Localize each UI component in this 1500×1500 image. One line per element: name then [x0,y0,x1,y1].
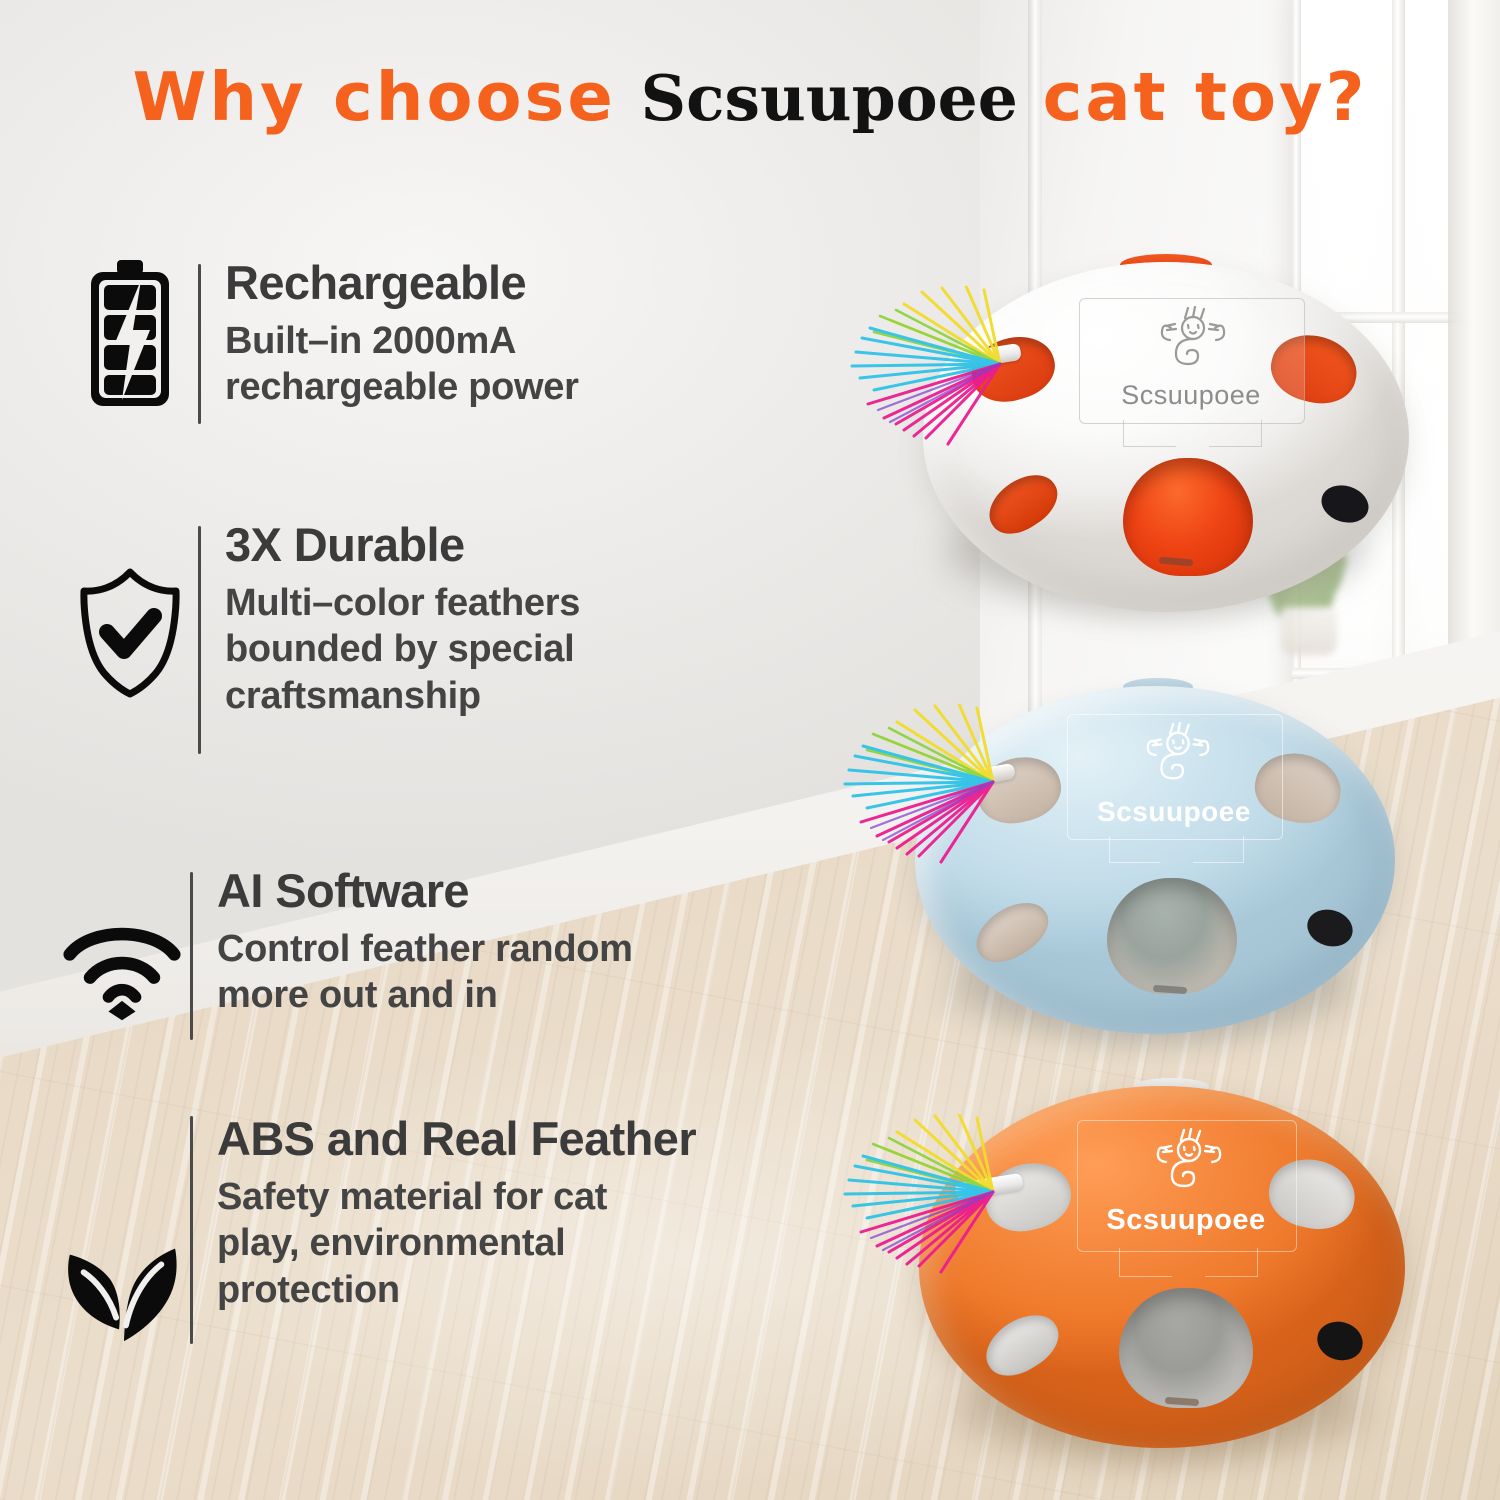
play-hole [979,463,1067,544]
feature-description-line: bounded by special [225,626,580,672]
feature-description-line: more out and in [217,972,633,1018]
page-title-prefix: Why choose [132,58,615,136]
page-title-suffix: cat toy? [1043,58,1368,136]
feature-description-line: play, environmental [217,1220,696,1266]
feature-rechargeable: Rechargeable Built–in 2000mA rechargeabl… [70,258,579,430]
shield-check-icon [70,520,190,698]
product-wordmark: Scsuupoee [1067,796,1281,828]
product-wordmark: Scsuupoee [1079,380,1303,411]
feature-text-block: 3X Durable Multi–color feathers bounded … [225,520,580,719]
main-play-hole [1119,1288,1253,1408]
lid-notch [1193,836,1244,863]
feature-text-block: AI Software Control feather random more … [217,866,633,1019]
lid-notch [1205,1248,1258,1277]
wifi-signal-icon [62,866,182,1022]
feature-divider-rule [190,1116,193,1344]
feature-description-line: Built–in 2000mA [225,318,579,364]
cat-logo-icon [1145,306,1241,376]
feature-divider-rule [198,526,201,754]
infographic-canvas: Why choose Scsuupoee cat toy? Rechargeab… [0,0,1500,1500]
orange-cat-toy[interactable]: Scsuupoee [905,1068,1425,1468]
play-hole [966,891,1058,973]
multi-color-feather [843,704,1023,864]
feature-text-block: ABS and Real Feather Safety material for… [217,1114,696,1313]
cat-logo-icon [1141,1128,1237,1198]
feature-description-line: Safety material for cat [217,1174,696,1220]
feature-description-line: protection [217,1267,696,1313]
lid-notch [1109,836,1160,863]
page-title-brand: Scsuupoee [641,61,1018,135]
feature-description-line: craftsmanship [225,673,580,719]
feature-title: ABS and Real Feather [217,1114,696,1164]
feature-description-line: rechargeable power [225,364,579,410]
sensor-eye [1313,1316,1368,1365]
play-hole [976,1303,1069,1387]
feature-description-line: Control feather random [217,926,633,972]
cat-logo-icon [1131,722,1225,790]
feature-divider-rule [190,872,193,1040]
sensor-eye [1317,479,1374,528]
battery-charging-icon [70,258,190,408]
white-cat-toy[interactable]: Scsuupoee [915,248,1415,620]
multi-color-feather [843,1114,1023,1274]
leaf-eco-icon [62,1172,182,1344]
feature-ai-software: AI Software Control feather random more … [62,866,633,1046]
page-title: Why choose Scsuupoee cat toy? [0,58,1500,136]
lid-notch [1209,420,1262,447]
feature-title: AI Software [217,866,633,916]
feature-description-line: Multi–color feathers [225,580,580,626]
feature-abs-real-feather: ABS and Real Feather Safety material for… [62,1172,696,1350]
product-wordmark: Scsuupoee [1077,1204,1295,1237]
feature-durable: 3X Durable Multi–color feathers bounded … [70,520,580,760]
blue-cat-toy[interactable]: Scsuupoee [905,670,1405,1050]
feature-divider-rule [198,264,201,424]
feature-title: 3X Durable [225,520,580,570]
multi-color-feather [850,286,1030,446]
sensor-eye [1303,904,1357,951]
main-play-hole [1107,878,1237,994]
feature-title: Rechargeable [225,258,579,308]
lid-notch [1123,420,1176,447]
feature-text-block: Rechargeable Built–in 2000mA rechargeabl… [225,258,579,411]
lid-notch [1119,1248,1172,1277]
